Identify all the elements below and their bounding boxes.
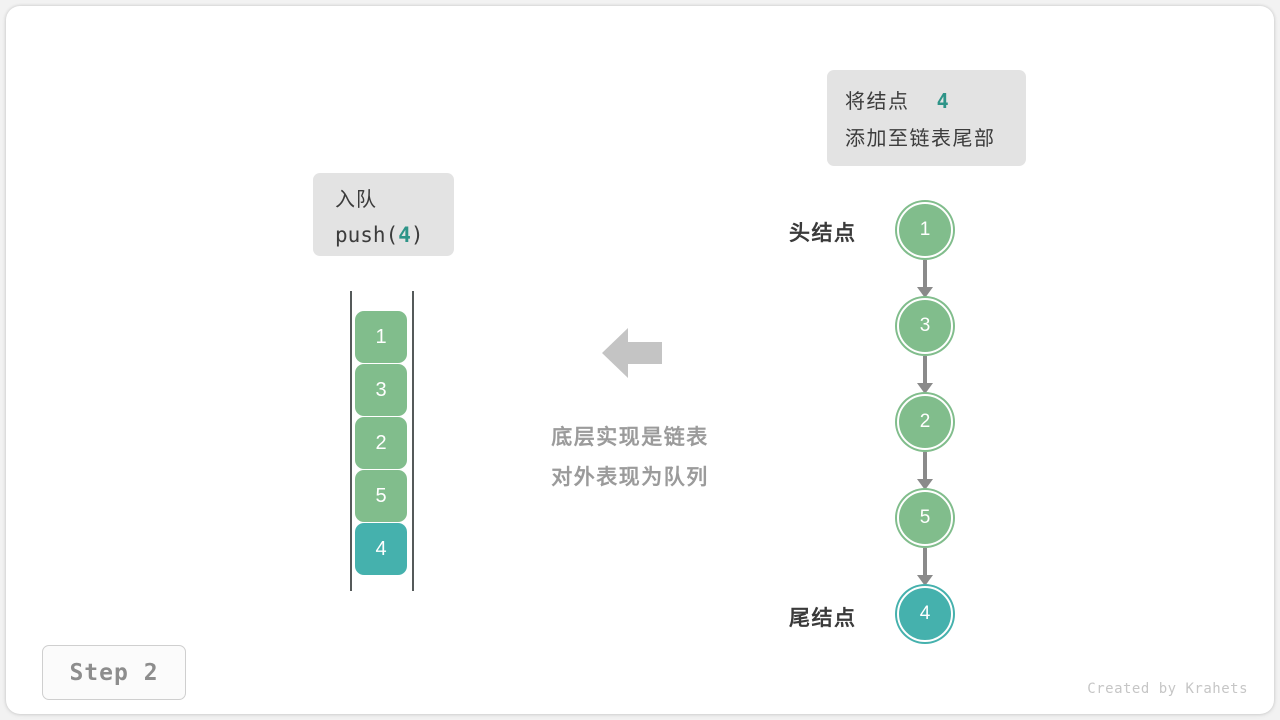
queue-item: 2 (355, 417, 407, 469)
list-node: 4 (897, 586, 953, 642)
figure-background: 入队 push(4) 将结点 4 添加至链表尾部 13254 底层实现是链表 对… (0, 0, 1280, 720)
push-callout-title: 入队 (335, 185, 454, 216)
queue-container: 13254 (350, 291, 416, 591)
list-node: 2 (897, 394, 953, 450)
list-node: 5 (897, 490, 953, 546)
center-caption: 底层实现是链表 对外表现为队列 (510, 418, 750, 498)
queue-item: 3 (355, 364, 407, 416)
queue-item: 1 (355, 311, 407, 363)
list-connector (923, 260, 927, 289)
queue-item: 5 (355, 470, 407, 522)
credit-text: Created by Krahets (1087, 681, 1248, 697)
list-connector-arrowhead (917, 383, 933, 394)
list-connector-arrowhead (917, 479, 933, 490)
push-callout-code: push(4) (335, 219, 454, 252)
queue-rail-left (350, 291, 352, 591)
list-connector (923, 356, 927, 385)
head-node-label: 头结点 (789, 217, 857, 247)
append-line1-value: 4 (937, 89, 951, 113)
push-code-value: 4 (398, 223, 411, 247)
list-connector (923, 548, 927, 577)
push-callout: 入队 push(4) (313, 173, 454, 256)
append-line1-prefix: 将结点 (845, 91, 910, 113)
queue-item: 4 (355, 523, 407, 575)
figure-card: 入队 push(4) 将结点 4 添加至链表尾部 13254 底层实现是链表 对… (6, 6, 1274, 714)
push-code-prefix: push( (335, 223, 398, 247)
list-connector-arrowhead (917, 575, 933, 586)
list-node: 1 (897, 202, 953, 258)
push-code-suffix: ) (411, 223, 424, 247)
queue-rail-right (412, 291, 414, 591)
list-connector (923, 452, 927, 481)
append-callout-line1: 将结点 4 (845, 86, 1026, 118)
append-callout: 将结点 4 添加至链表尾部 (827, 70, 1026, 166)
list-connector-arrowhead (917, 287, 933, 298)
step-badge: Step 2 (42, 645, 186, 700)
tail-node-label: 尾结点 (789, 602, 857, 632)
list-node: 3 (897, 298, 953, 354)
left-arrow-icon (602, 324, 662, 382)
append-callout-line2: 添加至链表尾部 (845, 124, 1026, 155)
linked-list-container: 13254 (881, 187, 971, 647)
center-caption-line2: 对外表现为队列 (510, 458, 750, 498)
center-caption-line1: 底层实现是链表 (510, 418, 750, 458)
